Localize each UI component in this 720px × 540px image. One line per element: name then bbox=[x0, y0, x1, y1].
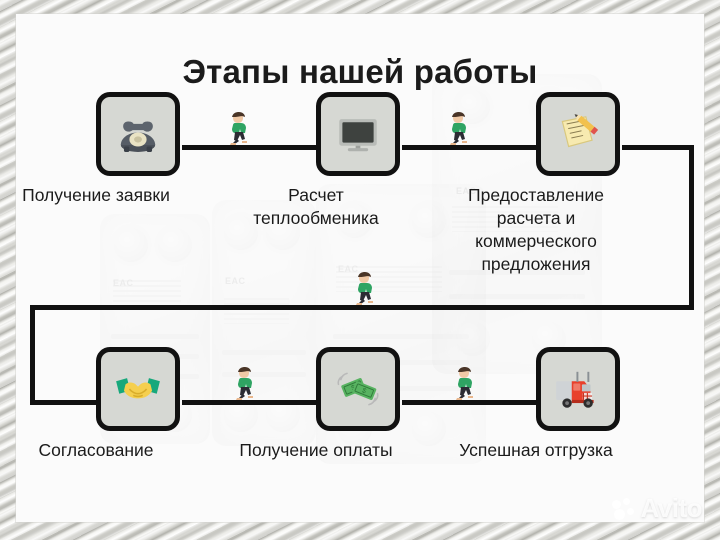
connector-step3-right bbox=[622, 145, 694, 150]
walker-2-icon bbox=[446, 111, 472, 145]
walker-1-icon bbox=[226, 111, 252, 145]
step-6-box[interactable] bbox=[536, 347, 620, 431]
connector-step2-step3 bbox=[402, 145, 544, 150]
connector-step1-step2 bbox=[182, 145, 324, 150]
connector-left-to-step4 bbox=[30, 400, 98, 405]
truck-icon bbox=[553, 364, 603, 414]
step-6-label: Успешная отгрузка bbox=[431, 439, 641, 462]
connector-step4-step5 bbox=[182, 400, 324, 405]
step-4-box[interactable] bbox=[96, 347, 180, 431]
step-3-box[interactable] bbox=[536, 92, 620, 176]
step-2-box[interactable] bbox=[316, 92, 400, 176]
telephone-icon bbox=[113, 109, 163, 159]
slide-canvas: EAC EAC EAC bbox=[16, 14, 704, 522]
page-title: Этапы нашей работы bbox=[16, 53, 704, 91]
connector-left-vertical bbox=[30, 305, 35, 405]
computer-icon bbox=[333, 109, 383, 159]
step-5-label: Получение оплаты bbox=[211, 439, 421, 462]
money-wings-icon: $ $ bbox=[333, 364, 383, 414]
memo-pencil-icon bbox=[553, 109, 603, 159]
slide-image: EAC EAC EAC bbox=[0, 0, 720, 540]
step-4-label: Согласование bbox=[16, 439, 201, 462]
walker-3-icon bbox=[352, 271, 378, 305]
step-5-box[interactable]: $ $ bbox=[316, 347, 400, 431]
step-1-label: Получение заявки bbox=[16, 184, 201, 207]
walker-5-icon bbox=[452, 366, 478, 400]
connector-middle-horizontal bbox=[30, 305, 694, 310]
step-2-label: Расчет теплообменика bbox=[211, 184, 421, 230]
handshake-icon bbox=[113, 364, 163, 414]
connector-right-vertical bbox=[689, 145, 694, 310]
step-3-label: Предоставление расчета и коммерческого п… bbox=[411, 184, 661, 276]
connector-step5-step6 bbox=[402, 400, 544, 405]
walker-4-icon bbox=[232, 366, 258, 400]
ghost-heat-exchanger-2: EAC bbox=[212, 200, 316, 446]
step-1-box[interactable] bbox=[96, 92, 180, 176]
